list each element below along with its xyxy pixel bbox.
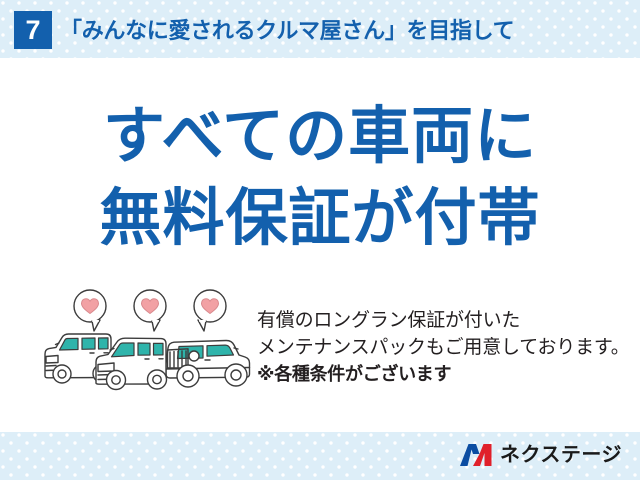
- header-title: 「みんなに愛されるクルマ屋さん」を目指して: [60, 13, 514, 45]
- car-suv: [166, 340, 250, 387]
- advertisement-page: 7 「みんなに愛されるクルマ屋さん」を目指して すべての車両に 無料保証が付帯: [0, 0, 640, 480]
- body-copy-line-2: メンテナンスパックもご用意しております。: [257, 334, 632, 361]
- body-copy-note: ※各種条件がございます: [257, 361, 632, 388]
- brand-logo: ネクステージ: [459, 442, 622, 468]
- body-copy: 有償のロングラン保証が付いた メンテナンスパックもご用意しております。 ※各種条…: [257, 307, 632, 388]
- cars-illustration: [40, 288, 255, 398]
- body-copy-line-1: 有償のロングラン保証が付いた: [257, 307, 632, 334]
- section-number-badge: 7: [14, 11, 52, 49]
- brand-logo-text: ネクステージ: [500, 445, 622, 465]
- nexstage-n-logo-icon: [459, 443, 493, 467]
- headline: すべての車両に 無料保証が付帯: [0, 96, 640, 260]
- headline-line-2: 無料保証が付帯: [0, 178, 640, 260]
- headline-line-1: すべての車両に: [0, 96, 640, 178]
